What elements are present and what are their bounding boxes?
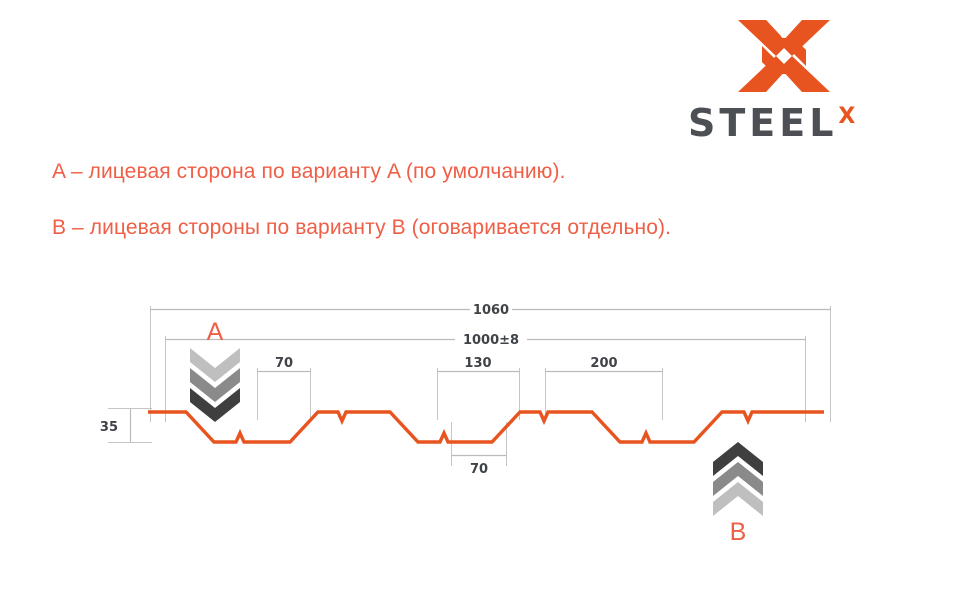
dim-label-height: 35 xyxy=(100,420,118,435)
marker-a-letter: A xyxy=(207,318,224,346)
dim-label-rib-top-width: 70 xyxy=(275,356,293,371)
brand-wordmark-superscript: X xyxy=(838,106,855,128)
dim-label-overall-width: 1060 xyxy=(473,303,509,318)
caption-variant-a: A – лицевая сторона по варианту A (по ум… xyxy=(52,160,566,184)
marker-side-a: A xyxy=(190,318,240,422)
dim-label-valley-width: 70 xyxy=(470,462,488,477)
steelx-x-mark-icon xyxy=(736,18,832,94)
profile-technical-drawing: 1060 1000±8 70 130 200 70 35 A B xyxy=(0,270,970,570)
dim-label-pitch: 200 xyxy=(590,356,617,371)
brand-logo: STEEL X xyxy=(688,18,918,143)
dim-label-useful-width: 1000±8 xyxy=(463,333,519,348)
chevron-down-icon xyxy=(190,348,240,422)
caption-variant-b: B – лицевая стороны по варианту B (огова… xyxy=(52,216,671,240)
brand-wordmark-main: STEEL xyxy=(688,104,837,142)
profile-cross-section-path xyxy=(148,412,824,442)
chevron-up-icon xyxy=(713,442,763,516)
brand-wordmark: STEEL X xyxy=(688,104,918,144)
marker-b-letter: B xyxy=(730,518,747,546)
dim-label-rib-spacing: 130 xyxy=(464,356,491,371)
marker-side-b: B xyxy=(713,442,763,546)
